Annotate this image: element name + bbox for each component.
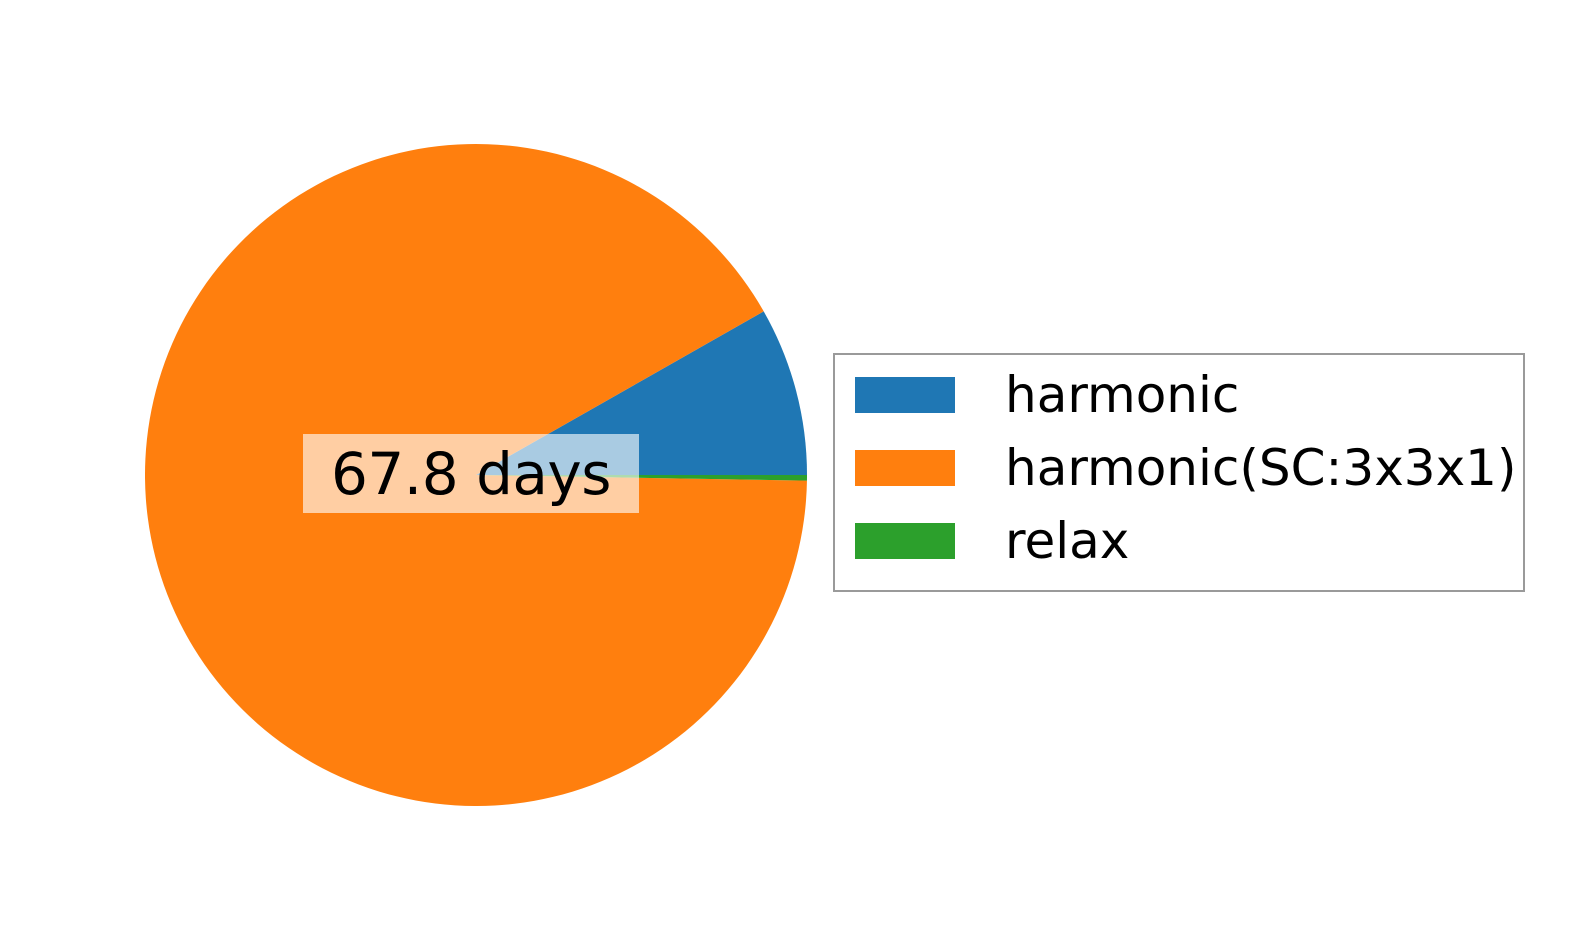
legend-label-harmonic-sc-3x3x1: harmonic(SC:3x3x1) [1005, 443, 1517, 493]
legend-label-relax: relax [1005, 516, 1129, 566]
pie-slice-label-text: 67.8 days [331, 445, 611, 503]
legend-item-harmonic[interactable]: harmonic [855, 369, 1239, 421]
legend-swatch-harmonic-sc-3x3x1-icon [855, 450, 955, 486]
legend-label-harmonic: harmonic [1005, 370, 1239, 420]
figure-canvas: 67.8 days harmonic harmonic(SC:3x3x1) re… [0, 0, 1584, 951]
legend-swatch-harmonic-icon [855, 377, 955, 413]
legend: harmonic harmonic(SC:3x3x1) relax [833, 353, 1525, 592]
legend-swatch-relax-icon [855, 523, 955, 559]
legend-item-relax[interactable]: relax [855, 515, 1129, 567]
legend-item-harmonic-sc-3x3x1[interactable]: harmonic(SC:3x3x1) [855, 442, 1517, 494]
pie-slice-label: 67.8 days [303, 434, 639, 513]
